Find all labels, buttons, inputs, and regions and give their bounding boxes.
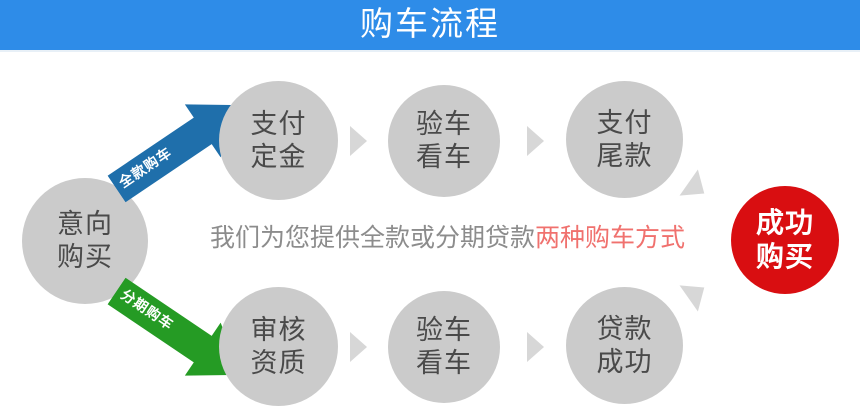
node-label-line2: 看车 (416, 141, 472, 174)
header-divider (0, 50, 860, 52)
node-label-line1: 支付 (597, 107, 653, 140)
node-label-line2: 购买 (756, 240, 814, 274)
node-label-line2: 定金 (251, 141, 307, 174)
node-inspect-car-full: 验车 看车 (388, 85, 500, 197)
node-loan-approved: 贷款 成功 (566, 287, 683, 404)
purchase-flow-infographic: 购车流程 意向 购买 全款购车 分期购车 支付 定金 验车 看车 支付 尾款 审… (0, 0, 860, 412)
node-pay-balance: 支付 尾款 (566, 81, 683, 198)
node-label-line1: 成功 (756, 206, 814, 240)
chevron-right-icon (350, 332, 367, 362)
node-label-line2: 成功 (597, 346, 653, 379)
node-label-line2: 资质 (251, 347, 307, 380)
node-label-line1: 贷款 (597, 313, 653, 346)
node-label-line2: 购买 (57, 241, 113, 274)
chevron-right-icon (527, 126, 544, 156)
node-label-line1: 意向 (57, 208, 113, 241)
node-label-line2: 尾款 (597, 140, 653, 173)
chevron-right-icon (527, 332, 544, 362)
node-pay-deposit: 支付 定金 (219, 81, 338, 200)
node-label-line1: 验车 (416, 108, 472, 141)
header-bar: 购车流程 (0, 0, 860, 50)
page-title: 购车流程 (0, 0, 860, 50)
node-review-qualification: 审核 资质 (219, 287, 338, 406)
arrow-converge-upper-icon (680, 169, 714, 206)
caption-highlight-text: 两种购车方式 (535, 223, 685, 252)
node-label-line1: 验车 (416, 314, 472, 347)
node-label-line1: 支付 (251, 108, 307, 141)
node-successful-purchase: 成功 购买 (731, 186, 839, 294)
caption-plain-text: 我们为您提供全款或分期贷款 (210, 223, 535, 252)
center-caption: 我们为您提供全款或分期贷款两种购车方式 (210, 221, 690, 255)
arrow-converge-lower-icon (680, 274, 714, 311)
node-label-line2: 看车 (416, 347, 472, 380)
chevron-right-icon (350, 126, 367, 156)
node-label-line1: 审核 (251, 314, 307, 347)
node-inspect-car-installment: 验车 看车 (388, 291, 500, 403)
